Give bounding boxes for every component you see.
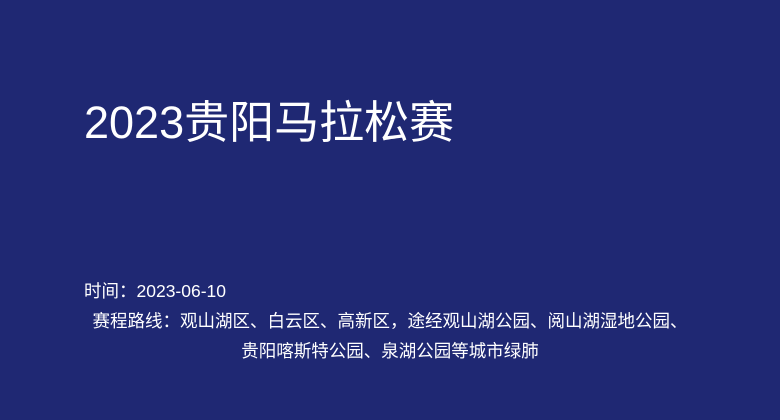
event-route-line-2: 贵阳喀斯特公园、泉湖公园等城市绿肺 bbox=[84, 336, 696, 366]
page-title: 2023贵阳马拉松赛 bbox=[84, 97, 740, 149]
event-route-line-1: 赛程路线：观山湖区、白云区、高新区，途经观山湖公园、阅山湖湿地公园、 bbox=[84, 306, 696, 336]
event-route-paragraph: 赛程路线：观山湖区、白云区、高新区，途经观山湖公园、阅山湖湿地公园、 贵阳喀斯特… bbox=[84, 306, 696, 366]
marathon-title-slide: 2023贵阳马拉松赛 时间：2023-06-10 赛程路线：观山湖区、白云区、高… bbox=[0, 0, 780, 420]
event-details-block: 时间：2023-06-10 赛程路线：观山湖区、白云区、高新区，途经观山湖公园、… bbox=[84, 276, 696, 366]
title-block: 2023贵阳马拉松赛 bbox=[84, 97, 740, 149]
event-date-line: 时间：2023-06-10 bbox=[84, 276, 696, 306]
